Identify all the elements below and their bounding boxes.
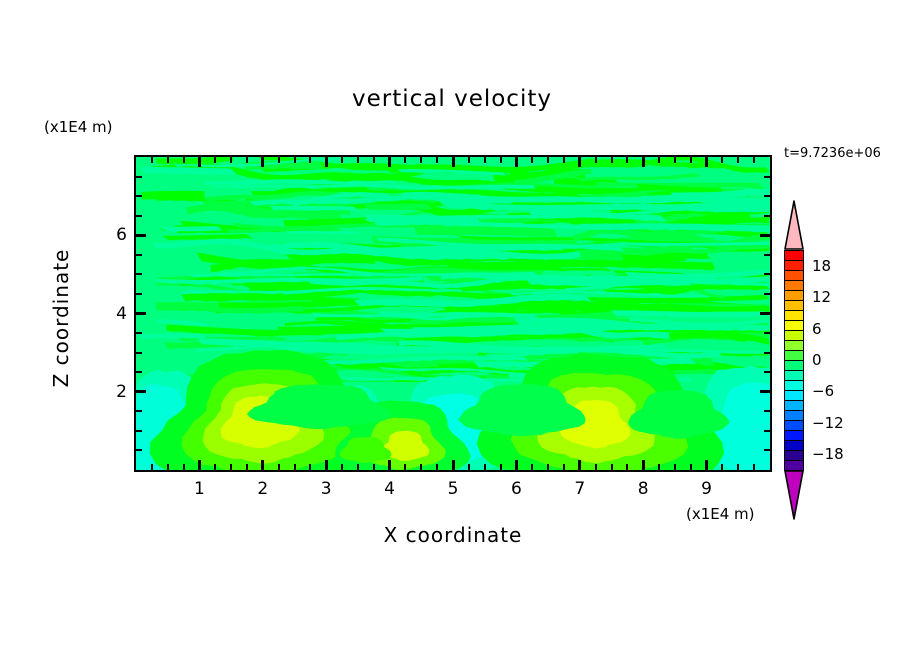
tick-mark xyxy=(167,464,169,470)
tick-mark xyxy=(578,460,581,470)
tick-mark xyxy=(764,332,770,334)
tick-mark xyxy=(136,215,142,217)
x-tick-label: 3 xyxy=(321,479,332,499)
tick-mark xyxy=(595,157,597,163)
tick-mark xyxy=(500,157,502,163)
tick-mark xyxy=(760,390,770,393)
tick-mark xyxy=(151,464,153,470)
tick-mark xyxy=(341,464,343,470)
tick-mark xyxy=(136,332,142,334)
tick-mark xyxy=(642,157,645,167)
tick-mark xyxy=(578,157,581,167)
tick-mark xyxy=(136,254,142,256)
tick-mark xyxy=(737,157,739,163)
tick-mark xyxy=(294,464,296,470)
x-axis-unit-label: (x1E4 m) xyxy=(686,505,755,523)
tick-mark xyxy=(420,464,422,470)
tick-mark xyxy=(764,430,770,432)
tick-mark xyxy=(136,430,142,432)
tick-mark xyxy=(198,460,201,470)
x-tick-label: 7 xyxy=(574,479,585,499)
x-tick-label: 5 xyxy=(448,479,459,499)
tick-mark xyxy=(642,460,645,470)
tick-mark xyxy=(436,464,438,470)
tick-mark xyxy=(278,157,280,163)
tick-mark xyxy=(563,157,565,163)
tick-mark xyxy=(136,273,142,275)
tick-mark xyxy=(436,157,438,163)
colorbar-label: 18 xyxy=(812,257,831,275)
tick-mark xyxy=(136,352,142,354)
tick-mark xyxy=(764,449,770,451)
x-tick-label: 8 xyxy=(638,479,649,499)
y-tick-label: 4 xyxy=(105,304,127,324)
tick-mark xyxy=(705,460,708,470)
colorbar-label: −12 xyxy=(812,414,844,432)
tick-mark xyxy=(136,176,142,178)
tick-mark xyxy=(452,460,455,470)
tick-mark xyxy=(183,464,185,470)
time-annotation: t=9.7236e+06 xyxy=(784,146,881,161)
plot-frame xyxy=(134,155,772,472)
tick-mark xyxy=(721,464,723,470)
tick-mark xyxy=(468,157,470,163)
x-tick-label: 1 xyxy=(194,479,205,499)
x-tick-label: 2 xyxy=(257,479,268,499)
tick-mark xyxy=(136,449,142,451)
tick-mark xyxy=(764,352,770,354)
tick-mark xyxy=(753,157,755,163)
tick-mark xyxy=(136,371,142,373)
tick-mark xyxy=(764,410,770,412)
tick-mark xyxy=(452,157,455,167)
colorbar-label: 6 xyxy=(812,320,822,338)
tick-mark xyxy=(658,157,660,163)
tick-mark xyxy=(764,176,770,178)
tick-mark xyxy=(547,464,549,470)
colorbar-label: −18 xyxy=(812,445,844,463)
page-title: vertical velocity xyxy=(0,86,904,112)
tick-mark xyxy=(658,464,660,470)
tick-mark xyxy=(214,157,216,163)
colorbar-label: −6 xyxy=(812,382,834,400)
tick-mark xyxy=(626,464,628,470)
tick-mark xyxy=(230,464,232,470)
y-axis-title: Z coordinate xyxy=(49,233,73,403)
tick-mark xyxy=(484,464,486,470)
tick-mark xyxy=(764,254,770,256)
tick-mark xyxy=(136,410,142,412)
tick-mark xyxy=(373,157,375,163)
colorbar-label: 0 xyxy=(812,351,822,369)
tick-mark xyxy=(420,157,422,163)
tick-mark xyxy=(136,312,146,315)
tick-mark xyxy=(484,157,486,163)
tick-mark xyxy=(595,464,597,470)
tick-mark xyxy=(198,157,201,167)
tick-mark xyxy=(611,157,613,163)
tick-mark xyxy=(515,157,518,167)
tick-mark xyxy=(261,460,264,470)
tick-mark xyxy=(309,464,311,470)
tick-mark xyxy=(737,464,739,470)
x-axis-title: X coordinate xyxy=(134,523,772,547)
tick-mark xyxy=(764,371,770,373)
colorbar-label: 12 xyxy=(812,288,831,306)
tick-mark xyxy=(388,157,391,167)
tick-mark xyxy=(294,157,296,163)
tick-mark xyxy=(705,157,708,167)
tick-mark xyxy=(357,464,359,470)
tick-mark xyxy=(611,464,613,470)
tick-mark xyxy=(246,157,248,163)
x-tick-label: 6 xyxy=(511,479,522,499)
tick-mark xyxy=(404,464,406,470)
tick-mark xyxy=(760,234,770,237)
tick-mark xyxy=(674,464,676,470)
tick-mark xyxy=(764,273,770,275)
tick-mark xyxy=(309,157,311,163)
tick-mark xyxy=(278,464,280,470)
tick-mark xyxy=(373,464,375,470)
tick-mark xyxy=(183,157,185,163)
tick-mark xyxy=(531,464,533,470)
tick-mark xyxy=(690,464,692,470)
colorbar: 181260−6−12−18 xyxy=(780,200,900,525)
tick-mark xyxy=(136,390,146,393)
tick-mark xyxy=(500,464,502,470)
tick-mark xyxy=(151,157,153,163)
tick-mark xyxy=(325,460,328,470)
tick-mark xyxy=(214,464,216,470)
colorbar-over-arrow xyxy=(784,200,804,250)
tick-mark xyxy=(721,157,723,163)
tick-mark xyxy=(531,157,533,163)
tick-mark xyxy=(357,157,359,163)
tick-mark xyxy=(515,460,518,470)
tick-mark xyxy=(136,293,142,295)
y-tick-label: 6 xyxy=(105,225,127,245)
tick-mark xyxy=(626,157,628,163)
tick-mark xyxy=(136,195,142,197)
tick-mark xyxy=(136,234,146,237)
tick-mark xyxy=(468,464,470,470)
tick-mark xyxy=(404,157,406,163)
tick-mark xyxy=(325,157,328,167)
colorbar-under-arrow xyxy=(784,470,804,520)
tick-mark xyxy=(167,157,169,163)
tick-mark xyxy=(547,157,549,163)
tick-mark xyxy=(261,157,264,167)
tick-mark xyxy=(760,312,770,315)
tick-mark xyxy=(388,460,391,470)
tick-mark xyxy=(690,157,692,163)
tick-mark xyxy=(341,157,343,163)
tick-mark xyxy=(246,464,248,470)
tick-mark xyxy=(674,157,676,163)
tick-mark xyxy=(764,215,770,217)
y-axis-unit-label: (x1E4 m) xyxy=(44,118,113,136)
tick-mark xyxy=(764,195,770,197)
x-tick-label: 9 xyxy=(701,479,712,499)
tick-mark xyxy=(753,464,755,470)
tick-mark xyxy=(563,464,565,470)
tick-mark xyxy=(764,293,770,295)
x-tick-label: 4 xyxy=(384,479,395,499)
y-tick-label: 2 xyxy=(105,382,127,402)
tick-mark xyxy=(230,157,232,163)
